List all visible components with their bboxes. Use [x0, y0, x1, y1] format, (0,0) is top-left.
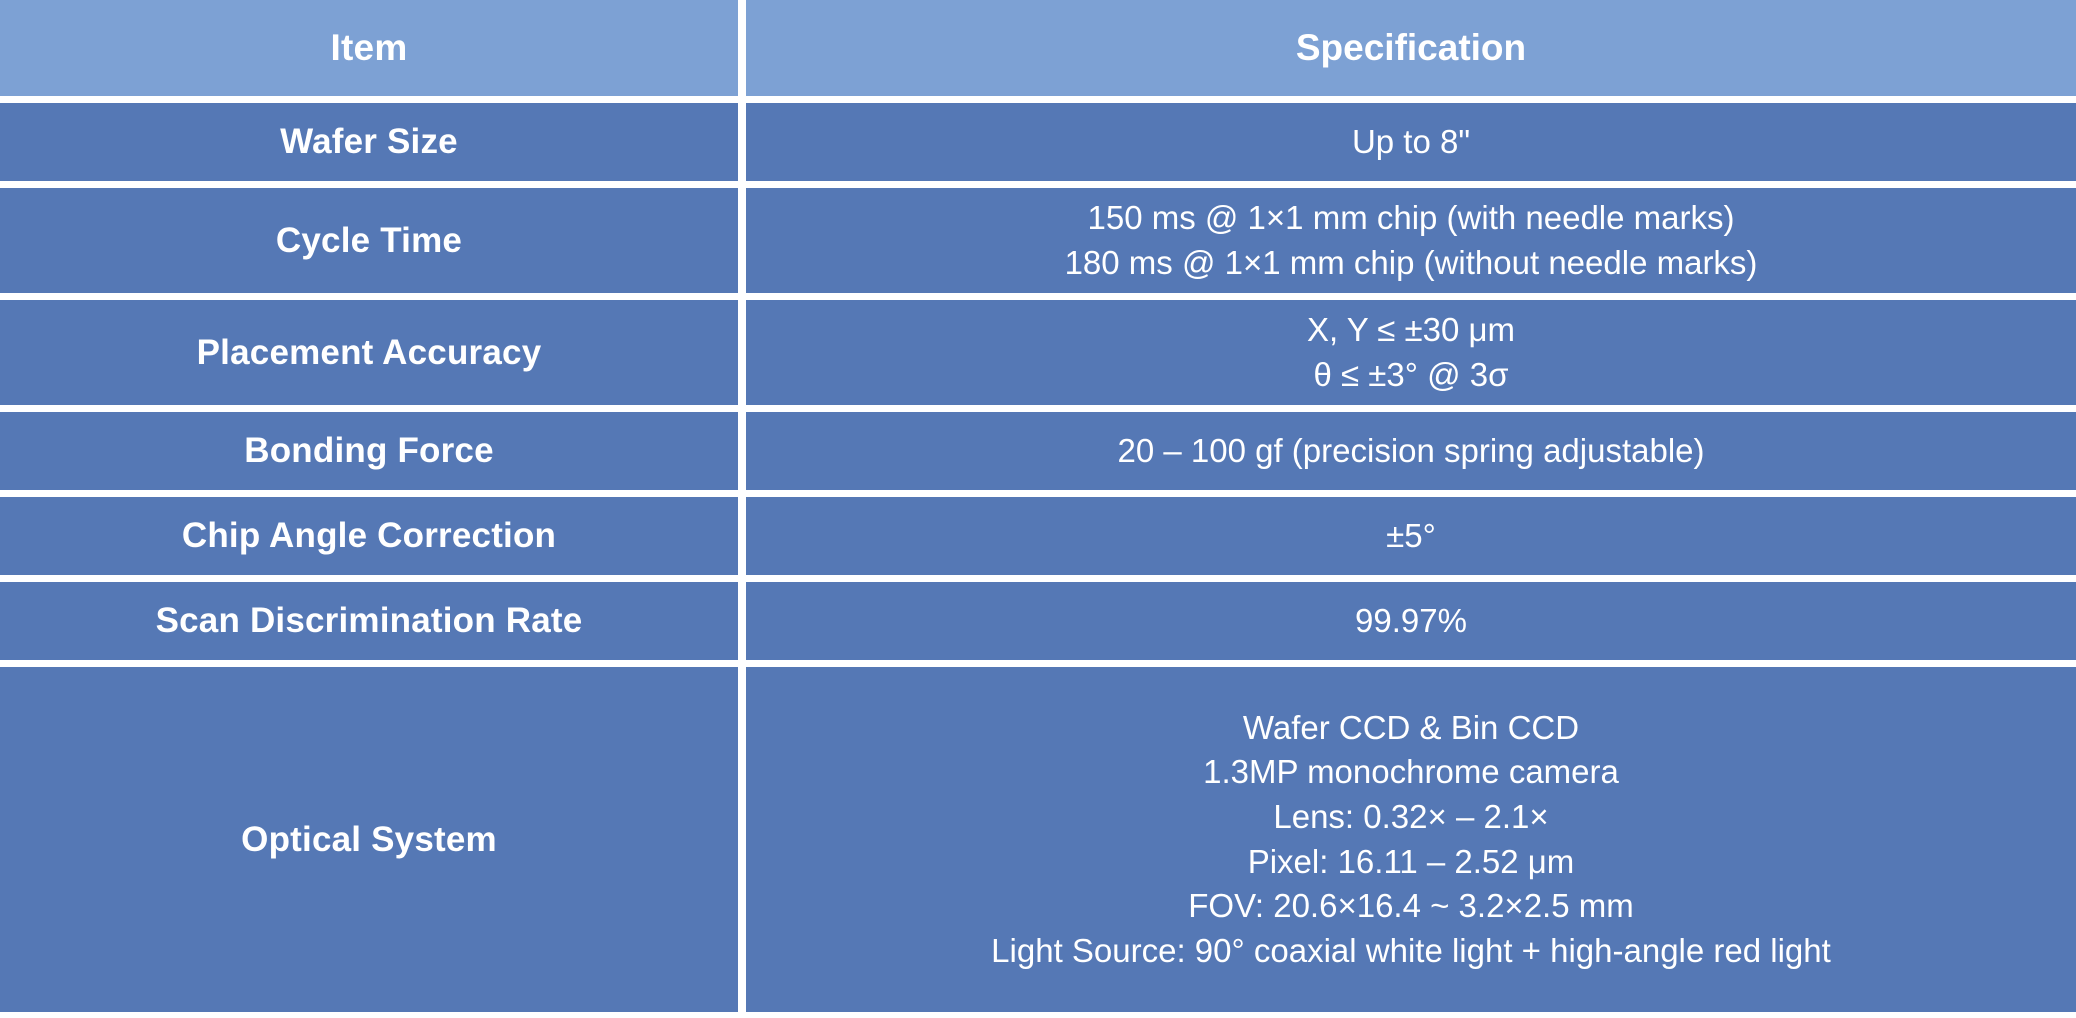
- row-spec-value-cell: Wafer CCD & Bin CCD 1.3MP monochrome cam…: [746, 667, 2076, 1012]
- row-spec-value-cell: ±5°: [746, 497, 2076, 575]
- spec-line: 180 ms @ 1×1 mm chip (without needle mar…: [1065, 241, 1758, 286]
- row-item-label-cell: Bonding Force: [0, 412, 738, 490]
- spec-line: Wafer CCD & Bin CCD: [1243, 706, 1579, 751]
- spec-line: FOV: 20.6×16.4 ~ 3.2×2.5 mm: [1188, 884, 1633, 929]
- column-header-item-label: Item: [331, 27, 408, 69]
- spec-line: 1.3MP monochrome camera: [1203, 750, 1619, 795]
- table-row: Chip Angle Correction ±5°: [0, 497, 2076, 575]
- spec-line: Pixel: 16.11 – 2.52 μm: [1248, 840, 1575, 885]
- row-item-label-cell: Placement Accuracy: [0, 300, 738, 405]
- table-header-row: Item Specification: [0, 0, 2076, 96]
- table-row: Wafer Size Up to 8": [0, 103, 2076, 181]
- table-row: Cycle Time 150 ms @ 1×1 mm chip (with ne…: [0, 188, 2076, 293]
- row-item-label: Chip Angle Correction: [182, 516, 556, 556]
- spec-line: 150 ms @ 1×1 mm chip (with needle marks): [1088, 196, 1735, 241]
- spec-line: 20 – 100 gf (precision spring adjustable…: [1117, 429, 1704, 474]
- row-item-label-cell: Cycle Time: [0, 188, 738, 293]
- spec-line: θ ≤ ±3° @ 3σ: [1313, 353, 1508, 398]
- spec-line: Up to 8": [1352, 120, 1470, 165]
- column-header-specification: Specification: [746, 0, 2076, 96]
- spec-lines: X, Y ≤ ±30 μm θ ≤ ±3° @ 3σ: [756, 308, 2066, 397]
- row-item-label: Placement Accuracy: [197, 333, 542, 373]
- row-item-label: Scan Discrimination Rate: [156, 601, 583, 641]
- specification-table: Item Specification Wafer Size Up to 8" C…: [0, 0, 2076, 1018]
- spec-lines: 150 ms @ 1×1 mm chip (with needle marks)…: [756, 196, 2066, 285]
- row-item-label-cell: Scan Discrimination Rate: [0, 582, 738, 660]
- row-item-label-cell: Optical System: [0, 667, 738, 1012]
- row-spec-value-cell: 150 ms @ 1×1 mm chip (with needle marks)…: [746, 188, 2076, 293]
- row-item-label: Wafer Size: [280, 122, 458, 162]
- row-item-label: Bonding Force: [244, 431, 494, 471]
- row-spec-value-cell: 99.97%: [746, 582, 2076, 660]
- row-item-label-cell: Wafer Size: [0, 103, 738, 181]
- table-row: Scan Discrimination Rate 99.97%: [0, 582, 2076, 660]
- row-spec-value-cell: 20 – 100 gf (precision spring adjustable…: [746, 412, 2076, 490]
- spec-lines: Wafer CCD & Bin CCD 1.3MP monochrome cam…: [756, 706, 2066, 973]
- spec-lines: ±5°: [756, 514, 2066, 559]
- column-header-specification-label: Specification: [1296, 23, 1526, 73]
- row-item-label-cell: Chip Angle Correction: [0, 497, 738, 575]
- spec-line: 99.97%: [1355, 599, 1467, 644]
- row-spec-value-cell: X, Y ≤ ±30 μm θ ≤ ±3° @ 3σ: [746, 300, 2076, 405]
- table-row: Optical System Wafer CCD & Bin CCD 1.3MP…: [0, 667, 2076, 1012]
- table-row: Bonding Force 20 – 100 gf (precision spr…: [0, 412, 2076, 490]
- spec-line: ±5°: [1386, 514, 1436, 559]
- spec-lines: Up to 8": [756, 120, 2066, 165]
- spec-lines: 99.97%: [756, 599, 2066, 644]
- row-item-label: Cycle Time: [276, 221, 462, 261]
- spec-line: Lens: 0.32× – 2.1×: [1273, 795, 1548, 840]
- column-header-item: Item: [0, 0, 738, 96]
- spec-line: Light Source: 90° coaxial white light + …: [991, 929, 1831, 974]
- row-spec-value-cell: Up to 8": [746, 103, 2076, 181]
- spec-line: X, Y ≤ ±30 μm: [1307, 308, 1515, 353]
- spec-lines: 20 – 100 gf (precision spring adjustable…: [756, 429, 2066, 474]
- table-row: Placement Accuracy X, Y ≤ ±30 μm θ ≤ ±3°…: [0, 300, 2076, 405]
- row-item-label: Optical System: [241, 820, 497, 860]
